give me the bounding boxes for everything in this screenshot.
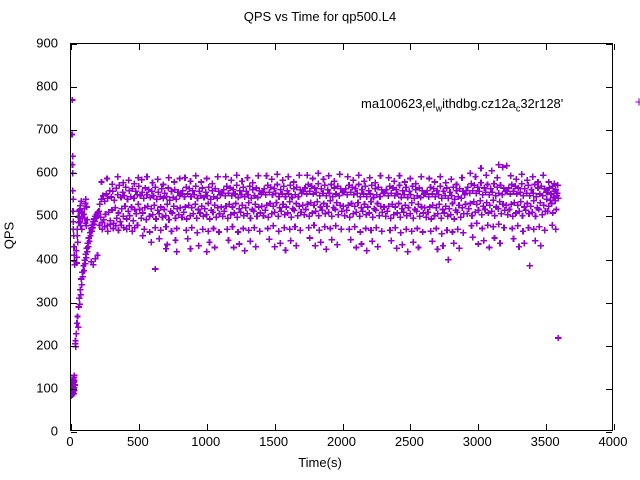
y-tick-mark (606, 389, 612, 390)
y-tick-mark (606, 260, 612, 261)
y-tick-mark (606, 346, 612, 347)
y-tick-mark (71, 87, 77, 88)
x-tick-label: 3500 (531, 434, 560, 449)
x-tick-label: 500 (127, 434, 149, 449)
y-tick-mark (71, 216, 77, 217)
y-tick-label: 0 (0, 424, 58, 439)
y-tick-label: 600 (0, 165, 58, 180)
y-tick-label: 500 (0, 208, 58, 223)
x-tick-mark (71, 424, 72, 430)
y-axis-tick-labels: 0100200300400500600700800900 (0, 43, 64, 431)
y-tick-mark (606, 303, 612, 304)
y-tick-mark (71, 260, 77, 261)
y-tick-label: 400 (0, 251, 58, 266)
gnuplot-chart-screenshot: QPS vs Time for qp500.L4 QPS Time(s) 010… (0, 0, 640, 480)
x-tick-mark (275, 424, 276, 430)
legend: ma100623relwithdbg.cz12ac32r128' + (361, 94, 563, 112)
y-tick-mark (606, 173, 612, 174)
y-tick-label: 100 (0, 380, 58, 395)
plot-area: ma100623relwithdbg.cz12ac32r128' + (70, 43, 613, 431)
x-tick-mark (139, 424, 140, 430)
y-tick-mark (606, 216, 612, 217)
y-tick-label: 700 (0, 122, 58, 137)
x-tick-label: 3000 (463, 434, 492, 449)
x-tick-mark (614, 424, 615, 430)
y-tick-label: 800 (0, 79, 58, 94)
x-tick-mark (139, 44, 140, 50)
y-tick-label: 300 (0, 294, 58, 309)
x-tick-mark (343, 424, 344, 430)
y-tick-mark (606, 87, 612, 88)
x-tick-mark (410, 44, 411, 50)
y-tick-label: 900 (0, 36, 58, 51)
legend-series-label: ma100623relwithdbg.cz12ac32r128' (361, 97, 563, 110)
y-tick-mark (71, 389, 77, 390)
x-tick-mark (207, 44, 208, 50)
x-tick-mark (343, 44, 344, 50)
x-tick-label: 1000 (191, 434, 220, 449)
y-tick-label: 200 (0, 337, 58, 352)
x-tick-mark (546, 424, 547, 430)
x-tick-label: 0 (66, 434, 73, 449)
x-tick-label: 2500 (395, 434, 424, 449)
x-tick-mark (478, 424, 479, 430)
x-axis-label: Time(s) (0, 455, 640, 470)
y-tick-mark (71, 173, 77, 174)
y-tick-mark (606, 432, 612, 433)
x-tick-mark (478, 44, 479, 50)
chart-title: QPS vs Time for qp500.L4 (0, 9, 640, 24)
x-tick-mark (275, 44, 276, 50)
x-tick-mark (207, 424, 208, 430)
y-tick-mark (71, 346, 77, 347)
x-axis-tick-labels: 05001000150020002500300035004000 (70, 434, 613, 454)
x-tick-label: 4000 (599, 434, 628, 449)
y-tick-mark (606, 44, 612, 45)
y-tick-mark (71, 130, 77, 131)
y-tick-mark (71, 303, 77, 304)
x-tick-mark (614, 44, 615, 50)
x-tick-mark (71, 44, 72, 50)
x-tick-mark (546, 44, 547, 50)
x-tick-label: 2000 (327, 434, 356, 449)
legend-marker-sample: + (631, 95, 640, 111)
x-tick-mark (410, 424, 411, 430)
y-tick-mark (71, 432, 77, 433)
y-tick-mark (606, 130, 612, 131)
x-tick-label: 1500 (259, 434, 288, 449)
